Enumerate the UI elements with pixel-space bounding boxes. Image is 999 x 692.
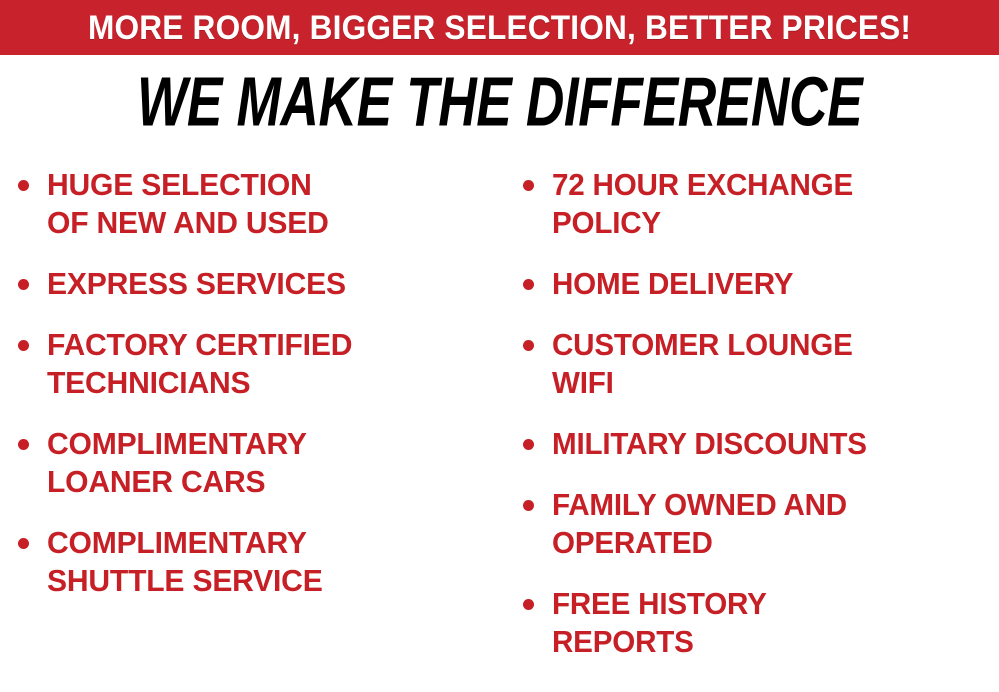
bullet-dot-icon — [523, 599, 534, 610]
bullet-dot-icon — [523, 500, 534, 511]
list-item-label: COMPLIMENTARY SHUTTLE SERVICE — [47, 524, 323, 600]
promo-banner: MORE ROOM, BIGGER SELECTION, BETTER PRIC… — [0, 0, 999, 55]
list-item-label: HUGE SELECTION OF NEW AND USED — [47, 166, 329, 242]
list-item: 72 HOUR EXCHANGE POLICY — [523, 166, 999, 242]
list-item: CUSTOMER LOUNGE WIFI — [523, 326, 999, 402]
list-item: FAMILY OWNED AND OPERATED — [523, 486, 999, 562]
list-item-label: FACTORY CERTIFIED TECHNICIANS — [47, 326, 352, 402]
features-columns: HUGE SELECTION OF NEW AND USED EXPRESS S… — [0, 150, 999, 692]
bullet-dot-icon — [523, 439, 534, 450]
bullet-dot-icon — [523, 180, 534, 191]
list-item-label: 72 HOUR EXCHANGE POLICY — [552, 166, 853, 242]
promo-banner-text: MORE ROOM, BIGGER SELECTION, BETTER PRIC… — [88, 11, 911, 45]
list-item-label: EXPRESS SERVICES — [47, 265, 346, 303]
list-item-label: FREE HISTORY REPORTS — [552, 585, 767, 661]
list-item: MILITARY DISCOUNTS — [523, 425, 999, 463]
list-item-label: CUSTOMER LOUNGE WIFI — [552, 326, 853, 402]
bullet-dot-icon — [18, 340, 29, 351]
bullet-dot-icon — [523, 340, 534, 351]
list-item: COMPLIMENTARY LOANER CARS — [18, 425, 505, 501]
bullet-dot-icon — [523, 279, 534, 290]
bullet-dot-icon — [18, 538, 29, 549]
list-item: COMPLIMENTARY SHUTTLE SERVICE — [18, 524, 505, 600]
list-item-label: FAMILY OWNED AND OPERATED — [552, 486, 847, 562]
list-item: HOME DELIVERY — [523, 265, 999, 303]
list-item: FREE HISTORY REPORTS — [523, 585, 999, 661]
list-item: FACTORY CERTIFIED TECHNICIANS — [18, 326, 505, 402]
page-title: WE MAKE THE DIFFERENCE — [137, 68, 862, 137]
list-item-label: MILITARY DISCOUNTS — [552, 425, 867, 463]
bullet-dot-icon — [18, 279, 29, 290]
bullet-dot-icon — [18, 439, 29, 450]
headline-container: WE MAKE THE DIFFERENCE — [0, 68, 999, 138]
features-column-left: HUGE SELECTION OF NEW AND USED EXPRESS S… — [0, 150, 505, 623]
list-item-label: HOME DELIVERY — [552, 265, 793, 303]
list-item: EXPRESS SERVICES — [18, 265, 505, 303]
bullet-dot-icon — [18, 180, 29, 191]
list-item: HUGE SELECTION OF NEW AND USED — [18, 166, 505, 242]
features-column-right: 72 HOUR EXCHANGE POLICY HOME DELIVERY CU… — [505, 150, 999, 684]
list-item-label: COMPLIMENTARY LOANER CARS — [47, 425, 307, 501]
